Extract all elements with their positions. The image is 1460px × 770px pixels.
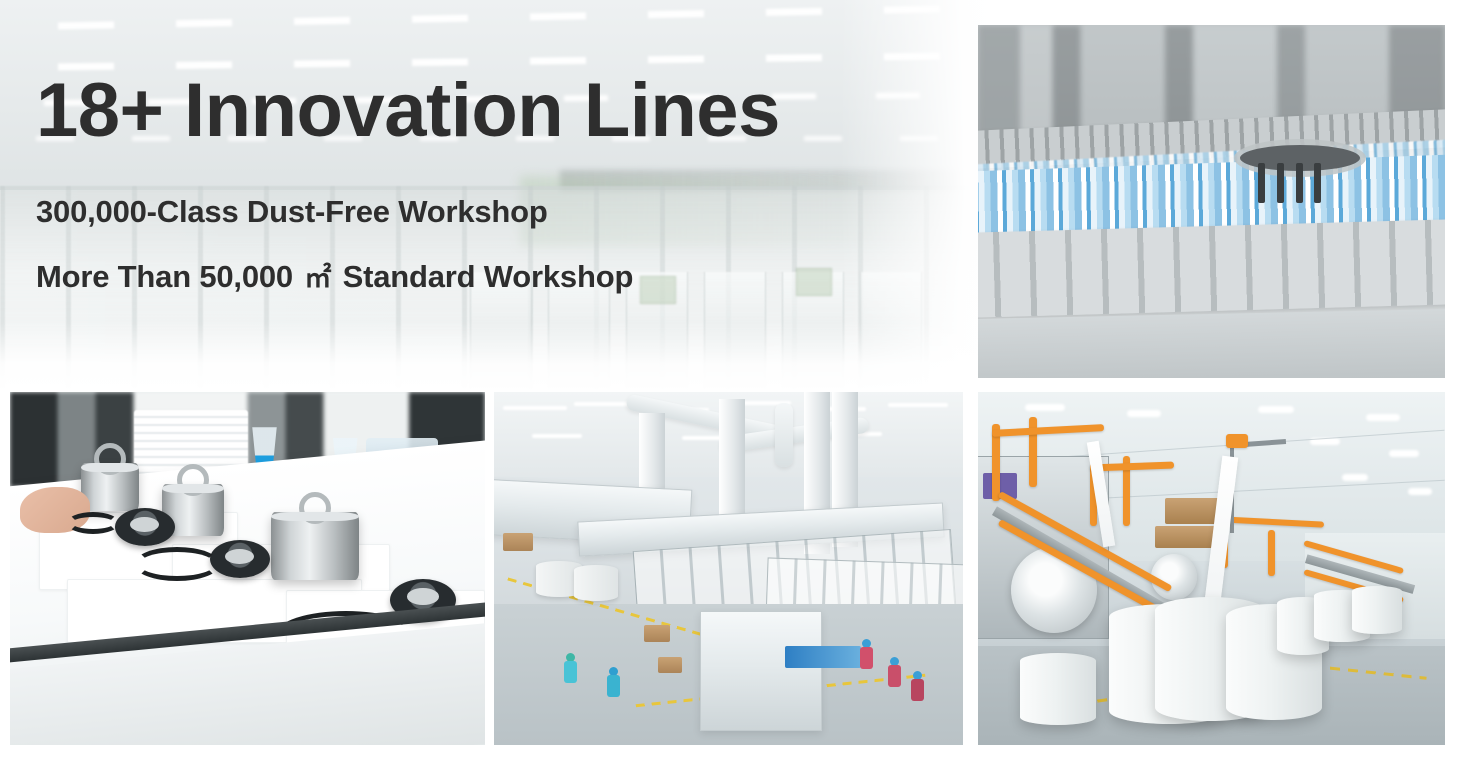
machine-banner <box>785 646 861 668</box>
worker <box>888 657 901 687</box>
worker-uniform <box>564 661 577 683</box>
ceiling-light <box>503 406 567 410</box>
workshop-air-duct <box>775 403 793 467</box>
hoist-trolley <box>1226 434 1248 448</box>
worker <box>607 667 620 697</box>
carton-box <box>1155 526 1217 548</box>
worker <box>860 639 873 669</box>
ceiling-light <box>1408 488 1432 495</box>
worker <box>911 671 924 701</box>
workshop-packaging-machine <box>700 611 822 731</box>
worker-uniform <box>607 675 620 697</box>
conveyor-pack-holders <box>978 219 1445 318</box>
conveyor-clamp <box>1314 163 1321 203</box>
ceiling-light <box>1342 474 1368 481</box>
lab-timer <box>115 508 175 546</box>
lab-timer-cord <box>67 512 119 534</box>
photo-packaging-conveyor <box>978 25 1445 378</box>
ceiling-light <box>1258 406 1294 413</box>
material-roll <box>574 565 618 601</box>
photo-laboratory-absorption-test <box>10 392 485 745</box>
worker-uniform <box>888 665 901 687</box>
ceiling-light <box>1025 404 1065 411</box>
large-material-roll <box>1020 653 1096 725</box>
conveyor-base-deck <box>978 309 1445 378</box>
factory-capability-banner: 18+ Innovation Lines 300,000-Class Dust-… <box>0 0 1460 770</box>
carton-box <box>503 533 533 551</box>
square-meter-unit: ㎡ <box>301 263 334 293</box>
subtitle-area-suffix: Standard Workshop <box>343 259 634 294</box>
carton-box <box>1165 498 1221 524</box>
subtitle-dust-free-workshop: 300,000-Class Dust-Free Workshop <box>36 194 936 230</box>
orange-handrail-post <box>1268 530 1275 576</box>
lab-steel-weight <box>271 512 359 580</box>
subtitle-standard-workshop: More Than 50,000 ㎡ Standard Workshop <box>36 256 936 295</box>
worker-uniform <box>860 647 873 669</box>
worker <box>564 653 577 683</box>
lab-timer-cord <box>134 547 220 581</box>
carton-box <box>658 657 682 673</box>
worker-uniform <box>911 679 924 701</box>
photo-production-workshop-overview <box>494 392 963 745</box>
headline-block: 18+ Innovation Lines 300,000-Class Dust-… <box>36 70 936 295</box>
ceiling-light <box>1127 410 1161 417</box>
background-bottom-fade <box>0 322 1000 392</box>
conveyor-clamp <box>1277 163 1284 203</box>
photo-nonwoven-material-line <box>978 392 1445 745</box>
large-material-roll <box>1352 586 1402 634</box>
ceiling-light <box>532 434 582 438</box>
lab-steel-weight <box>81 463 139 511</box>
ceiling-light <box>888 403 948 407</box>
ceiling-light <box>1389 450 1419 457</box>
conveyor-clamp <box>1258 163 1265 203</box>
conveyor-clamp <box>1296 163 1303 203</box>
page-title: 18+ Innovation Lines <box>36 70 936 152</box>
ceiling-light <box>574 402 632 406</box>
ceiling-light <box>1366 414 1400 421</box>
carton-box <box>644 625 670 642</box>
subtitle-area-prefix: More Than 50,000 <box>36 259 293 294</box>
